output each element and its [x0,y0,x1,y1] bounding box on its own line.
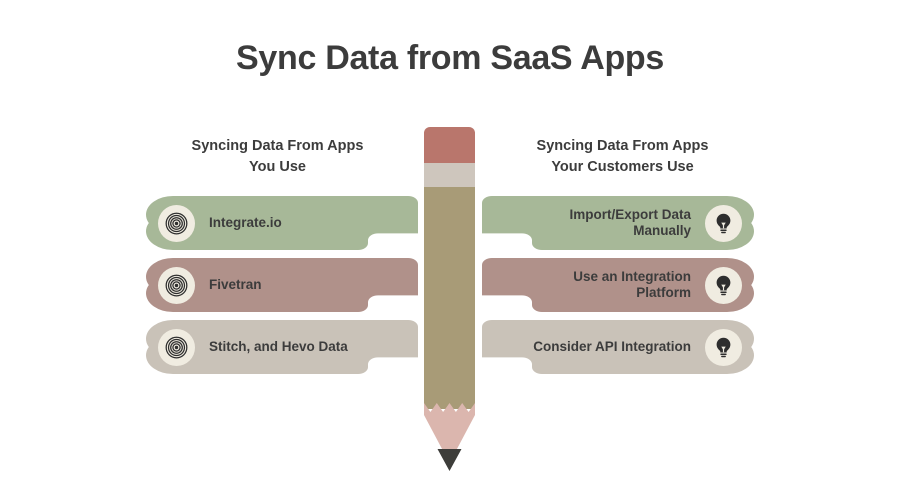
pencil-illustration [424,127,475,467]
list-item-label: Use an Integration Platform [573,269,691,302]
list-item[interactable]: Stitch, and Hevo Data [146,320,418,374]
pencil-graphite-path [438,449,462,471]
pencil-eraser [424,127,475,164]
list-item[interactable]: Fivetran [146,258,418,312]
lightbulb-icon-glyph [712,336,735,359]
lightbulb-icon [705,329,742,366]
target-icon-glyph [164,273,189,298]
bar-content: Use an Integration Platform [482,258,754,312]
list-item-label: Consider API Integration [533,339,691,356]
list-item-label: Fivetran [209,277,262,294]
infographic-canvas: Sync Data from SaaS Apps Syncing Data Fr… [0,0,900,500]
list-item[interactable]: Use an Integration Platform [482,258,754,312]
bar-content: Stitch, and Hevo Data [146,320,418,374]
pencil-graphite-tip [424,449,475,471]
lightbulb-icon-glyph [712,212,735,235]
right-column-heading: Syncing Data From Apps Your Customers Us… [495,136,750,178]
page-title: Sync Data from SaaS Apps [0,39,900,78]
lightbulb-icon [705,205,742,242]
list-item[interactable]: Integrate.io [146,196,418,250]
target-icon [158,267,195,304]
bar-content: Import/Export Data Manually [482,196,754,250]
list-item[interactable]: Import/Export Data Manually [482,196,754,250]
list-item-label: Integrate.io [209,215,282,232]
target-icon-glyph [164,211,189,236]
target-icon [158,205,195,242]
target-icon [158,329,195,366]
bar-content: Integrate.io [146,196,418,250]
left-column-heading: Syncing Data From Apps You Use [150,136,405,178]
list-item-label: Import/Export Data Manually [569,207,691,240]
target-icon-glyph [164,335,189,360]
lightbulb-icon [705,267,742,304]
bar-content: Consider API Integration [482,320,754,374]
pencil-ferrule [424,163,475,188]
list-item-label: Stitch, and Hevo Data [209,339,348,356]
lightbulb-icon-glyph [712,274,735,297]
pencil-body [424,187,475,409]
list-item[interactable]: Consider API Integration [482,320,754,374]
bar-content: Fivetran [146,258,418,312]
